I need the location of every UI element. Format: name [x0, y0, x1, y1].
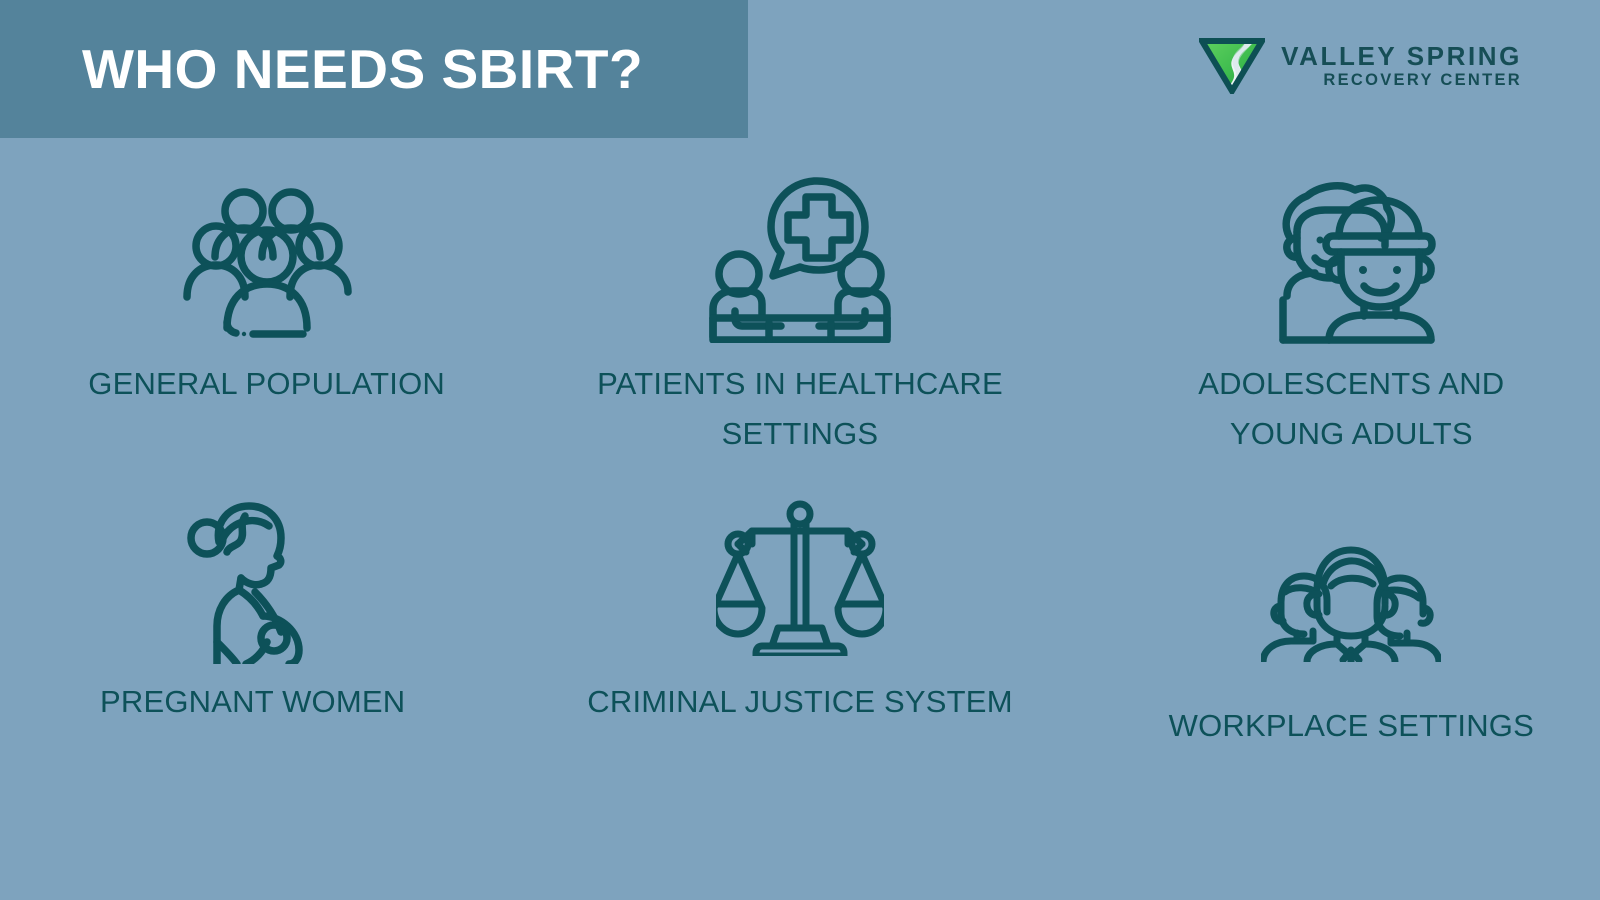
grid-item-adolescents-and-young-adults: ADOLESCENTS AND YOUNG ADULTS	[1085, 175, 1600, 493]
brand-text: VALLEY SPRING RECOVERY CENTER	[1281, 43, 1522, 90]
group-of-people-icon	[179, 175, 355, 345]
brand-name-primary: VALLEY SPRING	[1281, 43, 1522, 70]
grid-item-patients-in-healthcare-settings: PATIENTS IN HEALTHCARE SETTINGS	[533, 175, 1066, 493]
grid-item-workplace-settings: WORKPLACE SETTINGS	[1085, 493, 1600, 811]
business-team-icon	[1261, 517, 1441, 687]
grid-item-label: PREGNANT WOMEN	[100, 677, 405, 727]
valley-spring-v-logo-icon	[1199, 38, 1265, 94]
pregnant-woman-icon	[183, 493, 323, 663]
grid-item-general-population: GENERAL POPULATION	[0, 175, 533, 493]
grid-item-label: WORKPLACE SETTINGS	[1169, 701, 1534, 751]
header-band: WHO NEEDS SBIRT?	[0, 0, 748, 138]
grid-item-label: CRIMINAL JUSTICE SYSTEM	[587, 677, 1012, 727]
audience-grid: GENERAL POPULATION	[0, 175, 1600, 811]
two-young-people-icon	[1263, 175, 1439, 345]
brand-name-secondary: RECOVERY CENTER	[1281, 72, 1522, 89]
page-title: WHO NEEDS SBIRT?	[0, 42, 643, 97]
grid-item-criminal-justice-system: CRIMINAL JUSTICE SYSTEM	[533, 493, 1066, 811]
grid-item-label: GENERAL POPULATION	[88, 359, 445, 409]
medical-consultation-icon	[707, 175, 893, 345]
slide-root: WHO NEEDS SBIRT?	[0, 0, 1600, 900]
grid-item-label: ADOLESCENTS AND YOUNG ADULTS	[1171, 359, 1531, 459]
grid-item-pregnant-women: PREGNANT WOMEN	[0, 493, 519, 811]
grid-item-label: PATIENTS IN HEALTHCARE SETTINGS	[590, 359, 1010, 459]
scales-of-justice-icon	[716, 493, 884, 663]
brand-logo: VALLEY SPRING RECOVERY CENTER	[1199, 38, 1522, 94]
